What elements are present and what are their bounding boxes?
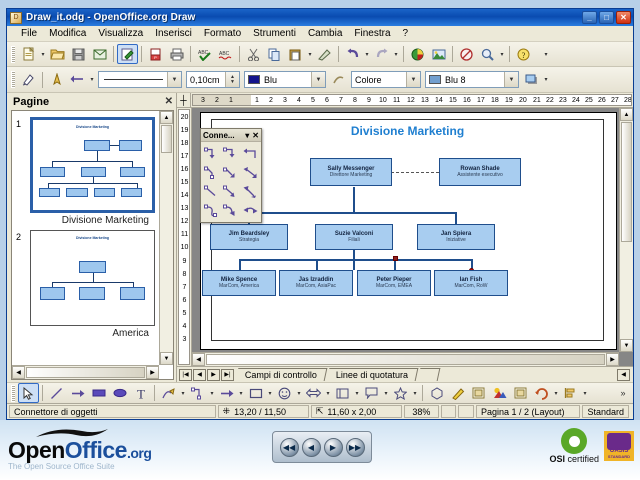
mini-connector <box>97 151 98 162</box>
osi-rest-text: certified <box>565 454 599 464</box>
line-and-fill-toolbar: ▾ ▼ 0,10cm ▲▼ Blu ▼ Colore ▼ Blu 8 ▼ <box>7 67 633 93</box>
next-page-button[interactable]: ▶ <box>207 369 220 381</box>
mini-box <box>84 140 110 151</box>
svg-text:T: T <box>137 387 145 400</box>
paste-dropdown-icon[interactable]: ▾ <box>306 51 314 58</box>
redo-dropdown-icon[interactable]: ▾ <box>392 51 400 58</box>
area-color-value: Blu 8 <box>445 75 466 85</box>
canvas-row: 2019 1817 1615 1413 1211 109 87 65 43 Di… <box>177 108 633 366</box>
title-bar: D Draw_it.odg - OpenOffice.org Draw _ □ … <box>7 9 633 26</box>
node-role: Direttore Marketing <box>330 173 373 179</box>
mini-box <box>66 188 87 198</box>
pages-panel-body: 1 Divisione Marketing <box>11 110 174 380</box>
pages-panel: Pagine ✕ 1 Divisione Marketing <box>7 93 177 382</box>
ruler-origin-icon[interactable]: ┼ <box>177 93 191 107</box>
connector-curved-arrows-icon[interactable] <box>241 201 260 220</box>
toolbar-separator <box>452 46 453 62</box>
close-icon[interactable]: ✕ <box>252 131 259 140</box>
pages-vertical-scrollbar[interactable]: ▲ ▼ <box>159 111 173 365</box>
svg-text:ABC: ABC <box>219 51 230 57</box>
spinner-arrows-icon[interactable]: ▲▼ <box>225 72 239 87</box>
stars-dropdown-icon[interactable]: ▾ <box>411 390 419 397</box>
clone-line-format-icon[interactable] <box>328 70 349 90</box>
node-role: MarCom, America <box>219 284 259 290</box>
menu-strumenti[interactable]: Strumenti <box>247 27 302 40</box>
mini-box <box>40 287 66 299</box>
lines-arrows-dropdown-icon[interactable]: ▾ <box>237 390 245 397</box>
svg-text:P: P <box>154 55 157 60</box>
connector-standard-icon[interactable] <box>202 144 221 163</box>
org-node-ian-fish[interactable]: Ian Fish MarCom, RoW <box>434 270 508 296</box>
mini-connector <box>93 273 94 281</box>
undo-icon[interactable] <box>342 44 363 64</box>
line-color-value: Blu <box>264 75 277 85</box>
toolbar-separator <box>422 385 423 401</box>
toolbar-separator <box>190 46 191 62</box>
previous-page-button[interactable]: ◀ <box>193 369 206 381</box>
oasis-line-2: STANDARD <box>608 454 630 460</box>
page-number: 2 <box>16 232 21 242</box>
block-arrows-dropdown-icon[interactable]: ▾ <box>324 390 332 397</box>
connector-line[interactable] <box>248 212 456 214</box>
connector-line-starts-right-icon[interactable] <box>221 163 240 182</box>
scroll-left-icon[interactable]: ◀ <box>12 366 25 379</box>
page-thumbnail-list: 1 Divisione Marketing <box>12 111 159 365</box>
chevron-down-icon[interactable]: ▼ <box>167 72 181 87</box>
connector-curved-icon[interactable] <box>202 201 221 220</box>
toolbar-separator <box>239 46 240 62</box>
status-object-info: Connettore di oggetti <box>9 405 216 418</box>
close-button[interactable]: ✕ <box>616 11 631 24</box>
tab-scroll-left-button[interactable]: ◀ <box>617 369 630 381</box>
callout-shapes-icon[interactable] <box>361 383 382 403</box>
tab-label: Linee di quotatura <box>336 370 408 380</box>
menu-file[interactable]: File <box>15 27 43 40</box>
basic-shapes-icon[interactable] <box>245 383 266 403</box>
logo-office: Office <box>65 437 127 463</box>
media-control-panel: ◀◀ ◀ ▶ ▶▶ <box>272 431 372 463</box>
mini-box <box>120 167 145 177</box>
thumbnail-title: Divisione Marketing <box>31 236 154 240</box>
symbol-shapes-icon[interactable] <box>274 383 295 403</box>
fontwork-icon[interactable] <box>447 383 468 403</box>
zoom-icon[interactable] <box>477 44 498 64</box>
last-page-button[interactable]: ▶| <box>221 369 234 381</box>
drawing-toolbar: T ▾ ▾ ▾ ▾ ▾ ▾ ▾ ▾ ▾ ▾ ▾ » <box>7 382 633 403</box>
edit-file-icon[interactable] <box>117 44 138 64</box>
lines-arrows-tool-icon[interactable] <box>216 383 237 403</box>
chevron-down-icon[interactable]: ▼ <box>311 72 325 87</box>
line-width-value: 0,10cm <box>190 75 220 85</box>
org-node-jan-spiera[interactable]: Jan Spiera Iniziative <box>417 224 495 250</box>
horizontal-ruler-scale[interactable]: 32 1 12 34 56 78 910 1112 1314 1516 1718… <box>192 94 632 106</box>
undo-dropdown-icon[interactable]: ▾ <box>363 51 371 58</box>
menu-cambia[interactable]: Cambia <box>302 27 348 40</box>
selection-handle[interactable] <box>393 256 398 261</box>
mini-box <box>119 140 143 151</box>
area-style-combo[interactable]: Colore ▼ <box>351 71 421 88</box>
save-document-icon[interactable] <box>68 44 89 64</box>
canvas[interactable]: Divisione Marketing <box>192 108 633 366</box>
thumbnail-title: Divisione Marketing <box>33 125 152 129</box>
svg-text:?: ? <box>522 51 526 60</box>
page-thumbnail-2[interactable]: Divisione Marketing <box>30 230 155 326</box>
org-node-rowan-shade[interactable]: Rowan Shade Assistente esecutivo <box>439 158 521 186</box>
toolbar-separator <box>42 72 43 88</box>
pages-horizontal-scrollbar[interactable]: ◀ ▶ <box>12 365 159 379</box>
status-modified-indicator <box>441 405 457 418</box>
curve-tool-icon[interactable] <box>158 383 179 403</box>
mini-box <box>40 167 65 177</box>
layer-tab-bar: |◀ ◀ ▶ ▶| Campi di controllo Linee di qu… <box>177 366 633 382</box>
status-signature-indicator <box>458 405 474 418</box>
certification-logos: OSI certified OASIS STANDARD <box>549 428 634 464</box>
select-tool-icon[interactable] <box>18 383 39 403</box>
new-dropdown-icon[interactable]: ▾ <box>39 51 47 58</box>
area-style-value: Colore <box>355 75 382 85</box>
status-size-value: 11,60 x 2,00 <box>327 407 376 417</box>
mini-connector <box>48 183 136 184</box>
page-caption: America <box>16 326 155 339</box>
size-icon: ⇱ <box>316 406 324 417</box>
mini-box <box>39 188 60 198</box>
connector-line[interactable] <box>316 259 318 270</box>
media-back-button[interactable]: ◀ <box>302 438 321 457</box>
logo-wordmark: OpenOffice.org <box>8 437 154 464</box>
window-title: Draw_it.odg - OpenOffice.org Draw <box>26 12 582 23</box>
application-window: D Draw_it.odg - OpenOffice.org Draw _ □ … <box>6 8 634 420</box>
status-position: ⁜ 13,20 / 11,50 <box>218 405 309 418</box>
symbol-shapes-dropdown-icon[interactable]: ▾ <box>295 390 303 397</box>
maximize-button[interactable]: □ <box>599 11 614 24</box>
mini-connector <box>110 145 118 146</box>
first-page-button[interactable]: |◀ <box>179 369 192 381</box>
connector-line[interactable] <box>239 259 241 270</box>
line-ends-icon[interactable] <box>67 70 88 90</box>
window-controls: _ □ ✕ <box>582 11 631 24</box>
connector-curved-arrow-end-icon[interactable] <box>221 201 240 220</box>
line-style-combo[interactable]: ▼ <box>98 71 182 88</box>
connector-line-icon[interactable] <box>202 163 221 182</box>
zoom-dropdown-icon[interactable]: ▾ <box>498 51 506 58</box>
line-width-spinner[interactable]: 0,10cm ▲▼ <box>186 71 240 88</box>
connector-tool-icon[interactable] <box>187 383 208 403</box>
toolbar-overflow-icon[interactable]: ▾ <box>542 76 550 83</box>
mini-connector <box>52 282 133 283</box>
connector-line[interactable] <box>455 212 457 224</box>
mini-box <box>79 261 106 273</box>
tab-linee-di-quotatura[interactable]: Linee di quotatura <box>327 368 419 381</box>
logo-open: Open <box>8 437 65 463</box>
page-sheet[interactable]: Divisione Marketing <box>200 112 617 350</box>
toolbar-grip[interactable] <box>11 385 15 402</box>
node-role: Strategia <box>239 238 259 244</box>
node-role: Iniziative <box>446 238 465 244</box>
status-position-value: 13,20 / 11,50 <box>234 407 286 417</box>
chevron-down-icon[interactable]: ▼ <box>504 72 518 87</box>
minimize-button[interactable]: _ <box>582 11 597 24</box>
connector-dropdown-icon[interactable]: ▾ <box>208 390 216 397</box>
status-size: ⇱ 11,60 x 2,00 <box>311 405 402 418</box>
diagram-title: Divisione Marketing <box>212 124 603 138</box>
connector-dashed[interactable] <box>391 172 439 173</box>
chart-icon[interactable] <box>407 44 428 64</box>
area-color-combo[interactable]: Blu 8 ▼ <box>425 71 519 88</box>
page-thumbnail-item[interactable]: 1 Divisione Marketing <box>16 117 155 226</box>
menu-visualizza[interactable]: Visualizza <box>92 27 149 40</box>
page-caption: Divisione Marketing <box>16 213 155 226</box>
open-document-icon[interactable] <box>47 44 68 64</box>
node-role: MarCom, EMEA <box>376 284 412 290</box>
copy-icon[interactable] <box>264 44 285 64</box>
image-icon[interactable] <box>428 44 449 64</box>
new-document-icon[interactable] <box>18 44 39 64</box>
callout-dropdown-icon[interactable]: ▾ <box>382 390 390 397</box>
standard-toolbar: ▾ P ABC ABC <box>7 42 633 67</box>
rotate-dropdown-icon[interactable]: ▾ <box>552 390 560 397</box>
slide-frame[interactable]: Divisione Marketing <box>211 119 604 341</box>
basic-shapes-dropdown-icon[interactable]: ▾ <box>266 390 274 397</box>
display-grid-icon[interactable] <box>456 44 477 64</box>
osi-keyhole-icon <box>561 428 587 454</box>
scrollbar-thumb[interactable] <box>26 367 145 378</box>
line-properties-icon[interactable] <box>18 70 39 90</box>
send-email-icon[interactable] <box>89 44 110 64</box>
menu-inserisci[interactable]: Inserisci <box>149 27 198 40</box>
status-page-info: Pagina 1 / 2 (Layout) <box>476 405 580 418</box>
stars-shapes-icon[interactable] <box>390 383 411 403</box>
print-icon[interactable] <box>166 44 187 64</box>
position-icon: ⁜ <box>223 406 231 417</box>
arrow-tool-icon[interactable] <box>67 383 88 403</box>
area-color-swatch <box>429 75 441 84</box>
connector-standard-ends-left-icon[interactable] <box>241 144 260 163</box>
node-role: MarCom, AsiaPac <box>296 284 336 290</box>
close-icon[interactable]: ✕ <box>165 96 173 107</box>
spellcheck-icon[interactable]: ABC <box>194 44 215 64</box>
oasis-standard-logo: OASIS STANDARD <box>604 431 634 461</box>
toolbar-grip[interactable] <box>11 46 15 63</box>
draw-document-icon: D <box>10 12 22 24</box>
media-previous-button[interactable]: ◀◀ <box>280 438 299 457</box>
logo-org: .org <box>127 445 151 461</box>
node-role: Filiali <box>348 238 359 244</box>
toolbar-separator <box>154 385 155 401</box>
scroll-up-icon[interactable]: ▲ <box>620 108 633 121</box>
page-thumbnail-1[interactable]: Divisione Marketing <box>30 117 155 213</box>
scroll-down-icon[interactable]: ▼ <box>160 352 173 365</box>
horizontal-ruler[interactable]: ┼ 32 1 12 34 56 78 910 1112 1314 1516 17… <box>177 93 633 108</box>
toolbar-overflow-icon[interactable]: » <box>619 388 627 398</box>
toolbar-separator <box>42 385 43 401</box>
align-dropdown-icon[interactable]: ▾ <box>581 390 589 397</box>
flowchart-dropdown-icon[interactable]: ▾ <box>353 390 361 397</box>
media-next-button[interactable]: ▶▶ <box>346 438 365 457</box>
status-bar: Connettore di oggetti ⁜ 13,20 / 11,50 ⇱ … <box>7 403 633 419</box>
mini-box <box>79 287 105 299</box>
flowchart-shapes-icon[interactable] <box>332 383 353 403</box>
clone-formatting-icon[interactable] <box>314 44 335 64</box>
node-role: Assistente esecutivo <box>457 173 503 179</box>
toolbar-grip[interactable] <box>11 71 15 88</box>
drawing-area: ┼ 32 1 12 34 56 78 910 1112 1314 1516 17… <box>177 93 633 382</box>
export-pdf-icon[interactable]: P <box>145 44 166 64</box>
status-style: Standard <box>582 405 629 418</box>
menu-finestra[interactable]: Finestra <box>348 27 396 40</box>
help-icon[interactable]: ? <box>513 44 534 64</box>
scroll-right-icon[interactable]: ▶ <box>146 366 159 379</box>
arrow-style-icon[interactable] <box>46 70 67 90</box>
org-node-mike-spence[interactable]: Mike Spence MarCom, America <box>202 270 276 296</box>
menu-modifica[interactable]: Modifica <box>43 27 92 40</box>
menu-formato[interactable]: Formato <box>198 27 247 40</box>
arrow-style-dropdown-icon[interactable]: ▾ <box>88 76 96 83</box>
toolbar-separator <box>403 46 404 62</box>
autospellcheck-icon[interactable]: ABC <box>215 44 236 64</box>
mini-box <box>121 188 142 198</box>
toolbar-separator <box>141 46 142 62</box>
toolbar-separator <box>113 46 114 62</box>
scroll-left-icon[interactable]: ◀ <box>192 353 205 366</box>
connector-line[interactable] <box>353 187 355 212</box>
connector-toolbar-header[interactable]: Conne... ▾ ✕ <box>201 129 261 142</box>
org-node-sally-messenger[interactable]: Sally Messenger Direttore Marketing <box>310 158 392 186</box>
osi-certified-logo: OSI certified <box>549 428 599 464</box>
bottom-banner: OpenOffice.org The Open Source Office Su… <box>0 420 640 480</box>
shadow-toggle-icon[interactable] <box>521 70 542 90</box>
mini-box <box>94 188 115 198</box>
curve-dropdown-icon[interactable]: ▾ <box>179 390 187 397</box>
mini-box <box>81 167 106 177</box>
chevron-down-icon[interactable]: ▼ <box>406 72 420 87</box>
align-icon[interactable] <box>560 383 581 403</box>
scrollbar-thumb[interactable] <box>161 125 172 153</box>
image-frame-icon[interactable] <box>510 383 531 403</box>
connector-line[interactable] <box>239 259 472 261</box>
page-number: 1 <box>16 119 21 129</box>
toolbar-separator <box>509 46 510 62</box>
rectangle-tool-icon[interactable] <box>88 383 109 403</box>
ellipse-tool-icon[interactable] <box>109 383 130 403</box>
pages-panel-header: Pagine ✕ <box>7 93 176 110</box>
status-zoom[interactable]: 38% <box>404 405 439 418</box>
osi-bold-text: OSI <box>549 454 565 464</box>
connector-line-ends-left-icon[interactable] <box>241 163 260 182</box>
text-tool-icon[interactable]: T <box>130 383 151 403</box>
rotate-icon[interactable] <box>531 383 552 403</box>
connector-button-grid <box>201 142 261 222</box>
line-color-swatch <box>248 75 260 84</box>
openoffice-logo: OpenOffice.org The Open Source Office Su… <box>8 428 154 471</box>
3d-objects-icon[interactable] <box>426 383 447 403</box>
chevron-down-icon[interactable]: ▾ <box>245 131 249 140</box>
org-node-suzie-valconi[interactable]: Suzie Valconi Filiali <box>315 224 393 250</box>
tab-label: Campi di controllo <box>245 370 317 380</box>
connector-straight-arrow-end-icon[interactable] <box>221 182 240 201</box>
toolbar-overflow-icon[interactable]: ▾ <box>542 51 550 58</box>
pages-panel-title: Pagine <box>13 96 165 108</box>
connector-standard-starts-right-icon[interactable] <box>221 144 240 163</box>
canvas-vertical-scrollbar[interactable]: ▲ ▼ <box>619 108 633 352</box>
cut-icon[interactable] <box>243 44 264 64</box>
line-color-combo[interactable]: Blu ▼ <box>244 71 326 88</box>
mini-box <box>120 287 146 299</box>
redo-icon[interactable] <box>371 44 392 64</box>
page-thumbnail-item[interactable]: 2 Divisione Marketing Americ <box>16 230 155 339</box>
block-arrows-icon[interactable] <box>303 383 324 403</box>
from-file-icon[interactable] <box>468 383 489 403</box>
canvas-horizontal-scrollbar[interactable]: ◀ ▶ <box>192 352 619 366</box>
scroll-up-icon[interactable]: ▲ <box>160 111 173 124</box>
toolbar-separator <box>338 46 339 62</box>
mini-connector <box>52 161 132 162</box>
scrollbar-thumb[interactable] <box>206 354 605 365</box>
org-node-jas-izraddin[interactable]: Jas Izraddin MarCom, AsiaPac <box>279 270 353 296</box>
workspace: Pagine ✕ 1 Divisione Marketing <box>7 93 633 382</box>
scrollbar-thumb[interactable] <box>621 122 632 242</box>
tab-campi-di-controllo[interactable]: Campi di controllo <box>236 368 328 381</box>
connector-straight-icon[interactable] <box>202 182 221 201</box>
scroll-right-icon[interactable]: ▶ <box>606 353 619 366</box>
org-node-jim-beardsley[interactable]: Jim Beardsley Strategia <box>210 224 288 250</box>
media-forward-button[interactable]: ▶ <box>324 438 343 457</box>
connector-toolbar[interactable]: Conne... ▾ ✕ <box>200 128 262 223</box>
connector-straight-arrow-start-icon[interactable] <box>241 182 260 201</box>
scroll-down-icon[interactable]: ▼ <box>620 339 633 352</box>
org-node-peter-pieper[interactable]: Peter Pieper MarCom, EMEA <box>357 270 431 296</box>
menu-help[interactable]: ? <box>397 27 415 40</box>
osi-label: OSI certified <box>549 454 599 464</box>
connector-toolbar-title: Conne... <box>203 131 245 140</box>
line-style-preview <box>104 79 163 80</box>
paste-icon[interactable] <box>285 44 306 64</box>
tab-empty[interactable] <box>418 368 440 381</box>
gallery-icon[interactable] <box>489 383 510 403</box>
line-tool-icon[interactable] <box>46 383 67 403</box>
node-role: MarCom, RoW <box>454 284 487 290</box>
oasis-label: OASIS STANDARD <box>608 448 630 461</box>
vertical-ruler[interactable]: 2019 1817 1615 1413 1211 109 87 65 43 <box>177 108 192 366</box>
menu-bar: File Modifica Visualizza Inserisci Forma… <box>7 26 633 42</box>
